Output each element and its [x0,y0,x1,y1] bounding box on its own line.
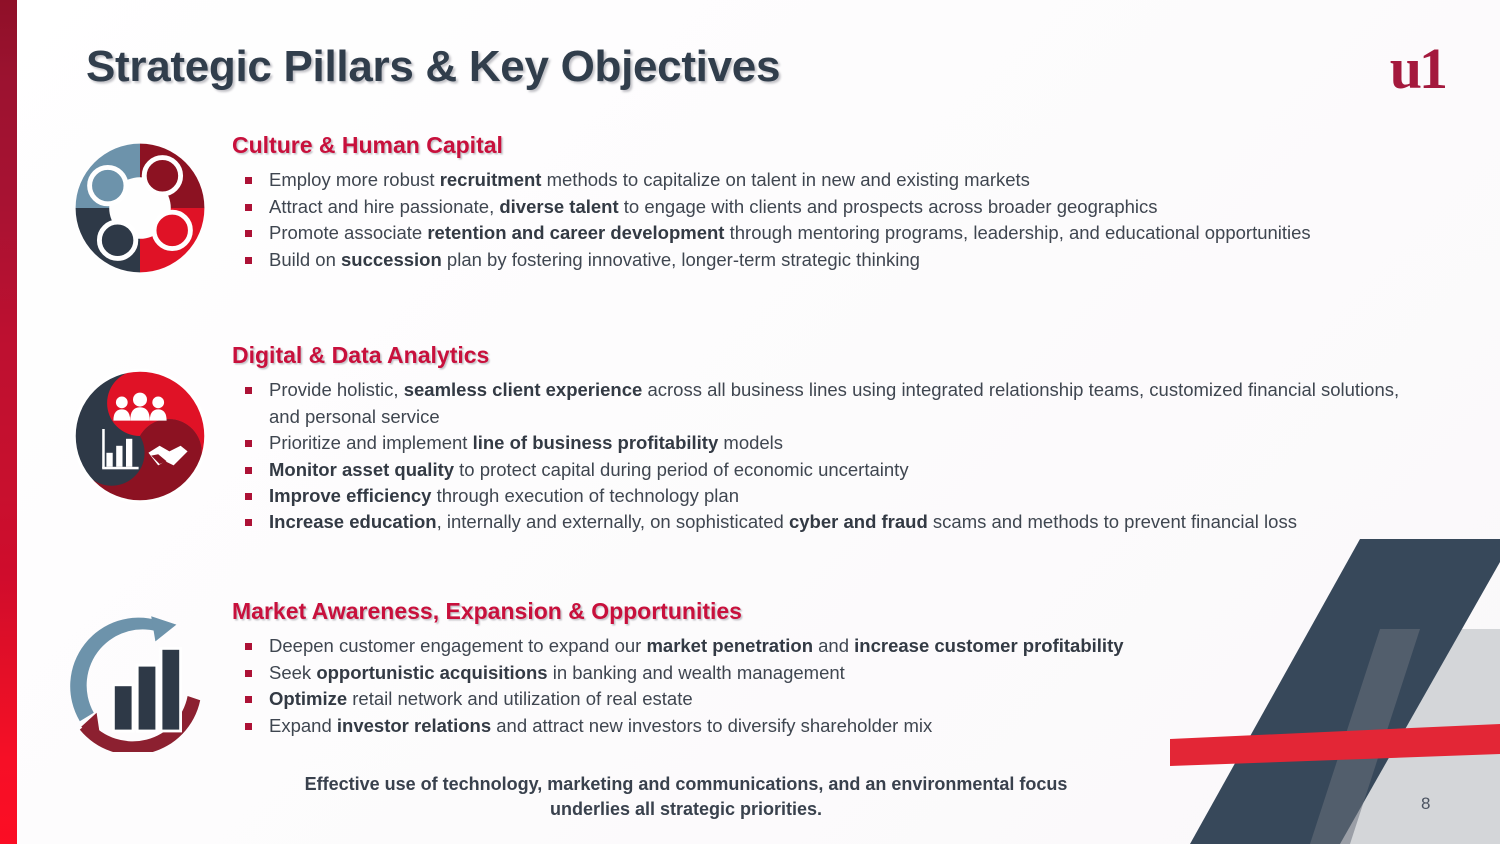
bullet-text: Expand [269,715,337,736]
footer-line-1: Effective use of technology, marketing a… [186,772,1186,797]
slide-canvas: Strategic Pillars & Key Objectives u1 [0,0,1500,844]
bullet-text: retail network and utilization of real e… [347,688,693,709]
bullet-text: to protect capital during period of econ… [454,459,909,480]
company-logo: u1 [1390,40,1445,98]
bullet-emphasis: opportunistic acquisitions [316,662,547,683]
bullet-text: Employ more robust [269,169,440,190]
bullet-emphasis: recruitment [440,169,542,190]
bars-glyph [113,648,180,731]
bullet-square-icon [245,440,252,447]
bullet-text: Deepen customer engagement to expand our [269,635,646,656]
bullet-text: Seek [269,662,316,683]
pillar-bullet-list: Provide holistic, seamless client experi… [232,377,1400,535]
bullet-square-icon [245,493,252,500]
pillar-heading: Culture & Human Capital [232,132,1400,158]
bullet-text: methods to capitalize on talent in new a… [541,169,1029,190]
bullet-square-icon [245,519,252,526]
bullet-text: through mentoring programs, leadership, … [724,222,1310,243]
bullet-item: Optimize retail network and utilization … [232,686,1400,712]
bullet-text: Promote associate [269,222,427,243]
bullet-emphasis: increase customer profitability [854,635,1123,656]
bullet-square-icon [245,204,252,211]
bullet-item: Expand investor relations and attract ne… [232,713,1400,739]
bullet-emphasis: cyber and fraud [789,511,928,532]
bullet-square-icon [245,696,252,703]
bullet-item: Prioritize and implement line of busines… [232,430,1400,456]
bullet-square-icon [245,723,252,730]
bullet-square-icon [245,257,252,264]
bullet-item: Monitor asset quality to protect capital… [232,457,1400,483]
teamwork-circle-icon [70,138,210,278]
bullet-emphasis: retention and career development [427,222,724,243]
bullet-item: Deepen customer engagement to expand our… [232,633,1400,659]
bullet-emphasis: seamless client experience [404,379,643,400]
bullet-text: Attract and hire passionate, [269,196,499,217]
bullet-text: to engage with clients and prospects acr… [619,196,1158,217]
bullet-square-icon [245,670,252,677]
bullet-text: , internally and externally, on sophisti… [437,511,789,532]
bullet-square-icon [245,177,252,184]
page-number: 8 [1421,794,1430,814]
bullet-text: models [718,432,783,453]
bullet-emphasis: Improve efficiency [269,485,431,506]
bullet-square-icon [245,467,252,474]
pillar-heading: Digital & Data Analytics [232,342,1400,368]
bullet-text: and [813,635,854,656]
bullet-text: Provide holistic, [269,379,404,400]
pillar-heading: Market Awareness, Expansion & Opportunit… [232,598,1400,624]
bullet-emphasis: Optimize [269,688,347,709]
growth-arrow-chart-icon [70,612,210,752]
footer-note: Effective use of technology, marketing a… [186,772,1186,822]
bullet-emphasis: succession [341,249,442,270]
pillar-section-digital-data-analytics: Digital & Data Analytics Provide holisti… [0,342,1420,594]
page-title: Strategic Pillars & Key Objectives [86,42,780,92]
pillar-section-culture-human-capital: Culture & Human Capital Employ more robu… [0,132,1420,332]
data-swirl-icon [70,366,210,506]
pillar-bullet-list: Employ more robust recruitment methods t… [232,167,1400,273]
bullet-square-icon [245,387,252,394]
bullet-emphasis: Monitor asset quality [269,459,454,480]
bullet-item: Increase education, internally and exter… [232,509,1400,535]
bullet-square-icon [245,643,252,650]
bullet-item: Promote associate retention and career d… [232,220,1400,246]
bullet-text: through execution of technology plan [431,485,739,506]
bullet-emphasis: line of business profitability [473,432,719,453]
bullet-item: Attract and hire passionate, diverse tal… [232,194,1400,220]
bullet-item: Seek opportunistic acquisitions in banki… [232,660,1400,686]
footer-line-2: underlies all strategic priorities. [186,797,1186,822]
bullet-item: Employ more robust recruitment methods t… [232,167,1400,193]
bullet-item: Build on succession plan by fostering in… [232,247,1400,273]
bullet-text: Build on [269,249,341,270]
bullet-text: in banking and wealth management [548,662,845,683]
pillar-section-market-awareness: Market Awareness, Expansion & Opportunit… [0,598,1420,758]
bullet-square-icon [245,230,252,237]
bullet-item: Improve efficiency through execution of … [232,483,1400,509]
pillars-container: Culture & Human Capital Employ more robu… [0,132,1420,758]
bullet-emphasis: Increase education [269,511,437,532]
bullet-item: Provide holistic, seamless client experi… [232,377,1400,430]
bullet-emphasis: market penetration [646,635,813,656]
pillar-bullet-list: Deepen customer engagement to expand our… [232,633,1400,739]
bullet-text: scams and methods to prevent financial l… [928,511,1297,532]
bullet-emphasis: investor relations [337,715,491,736]
bullet-text: Prioritize and implement [269,432,473,453]
left-accent-bar [0,0,17,844]
bullet-text: plan by fostering innovative, longer-ter… [442,249,920,270]
bullet-text: and attract new investors to diversify s… [491,715,932,736]
bullet-emphasis: diverse talent [499,196,618,217]
